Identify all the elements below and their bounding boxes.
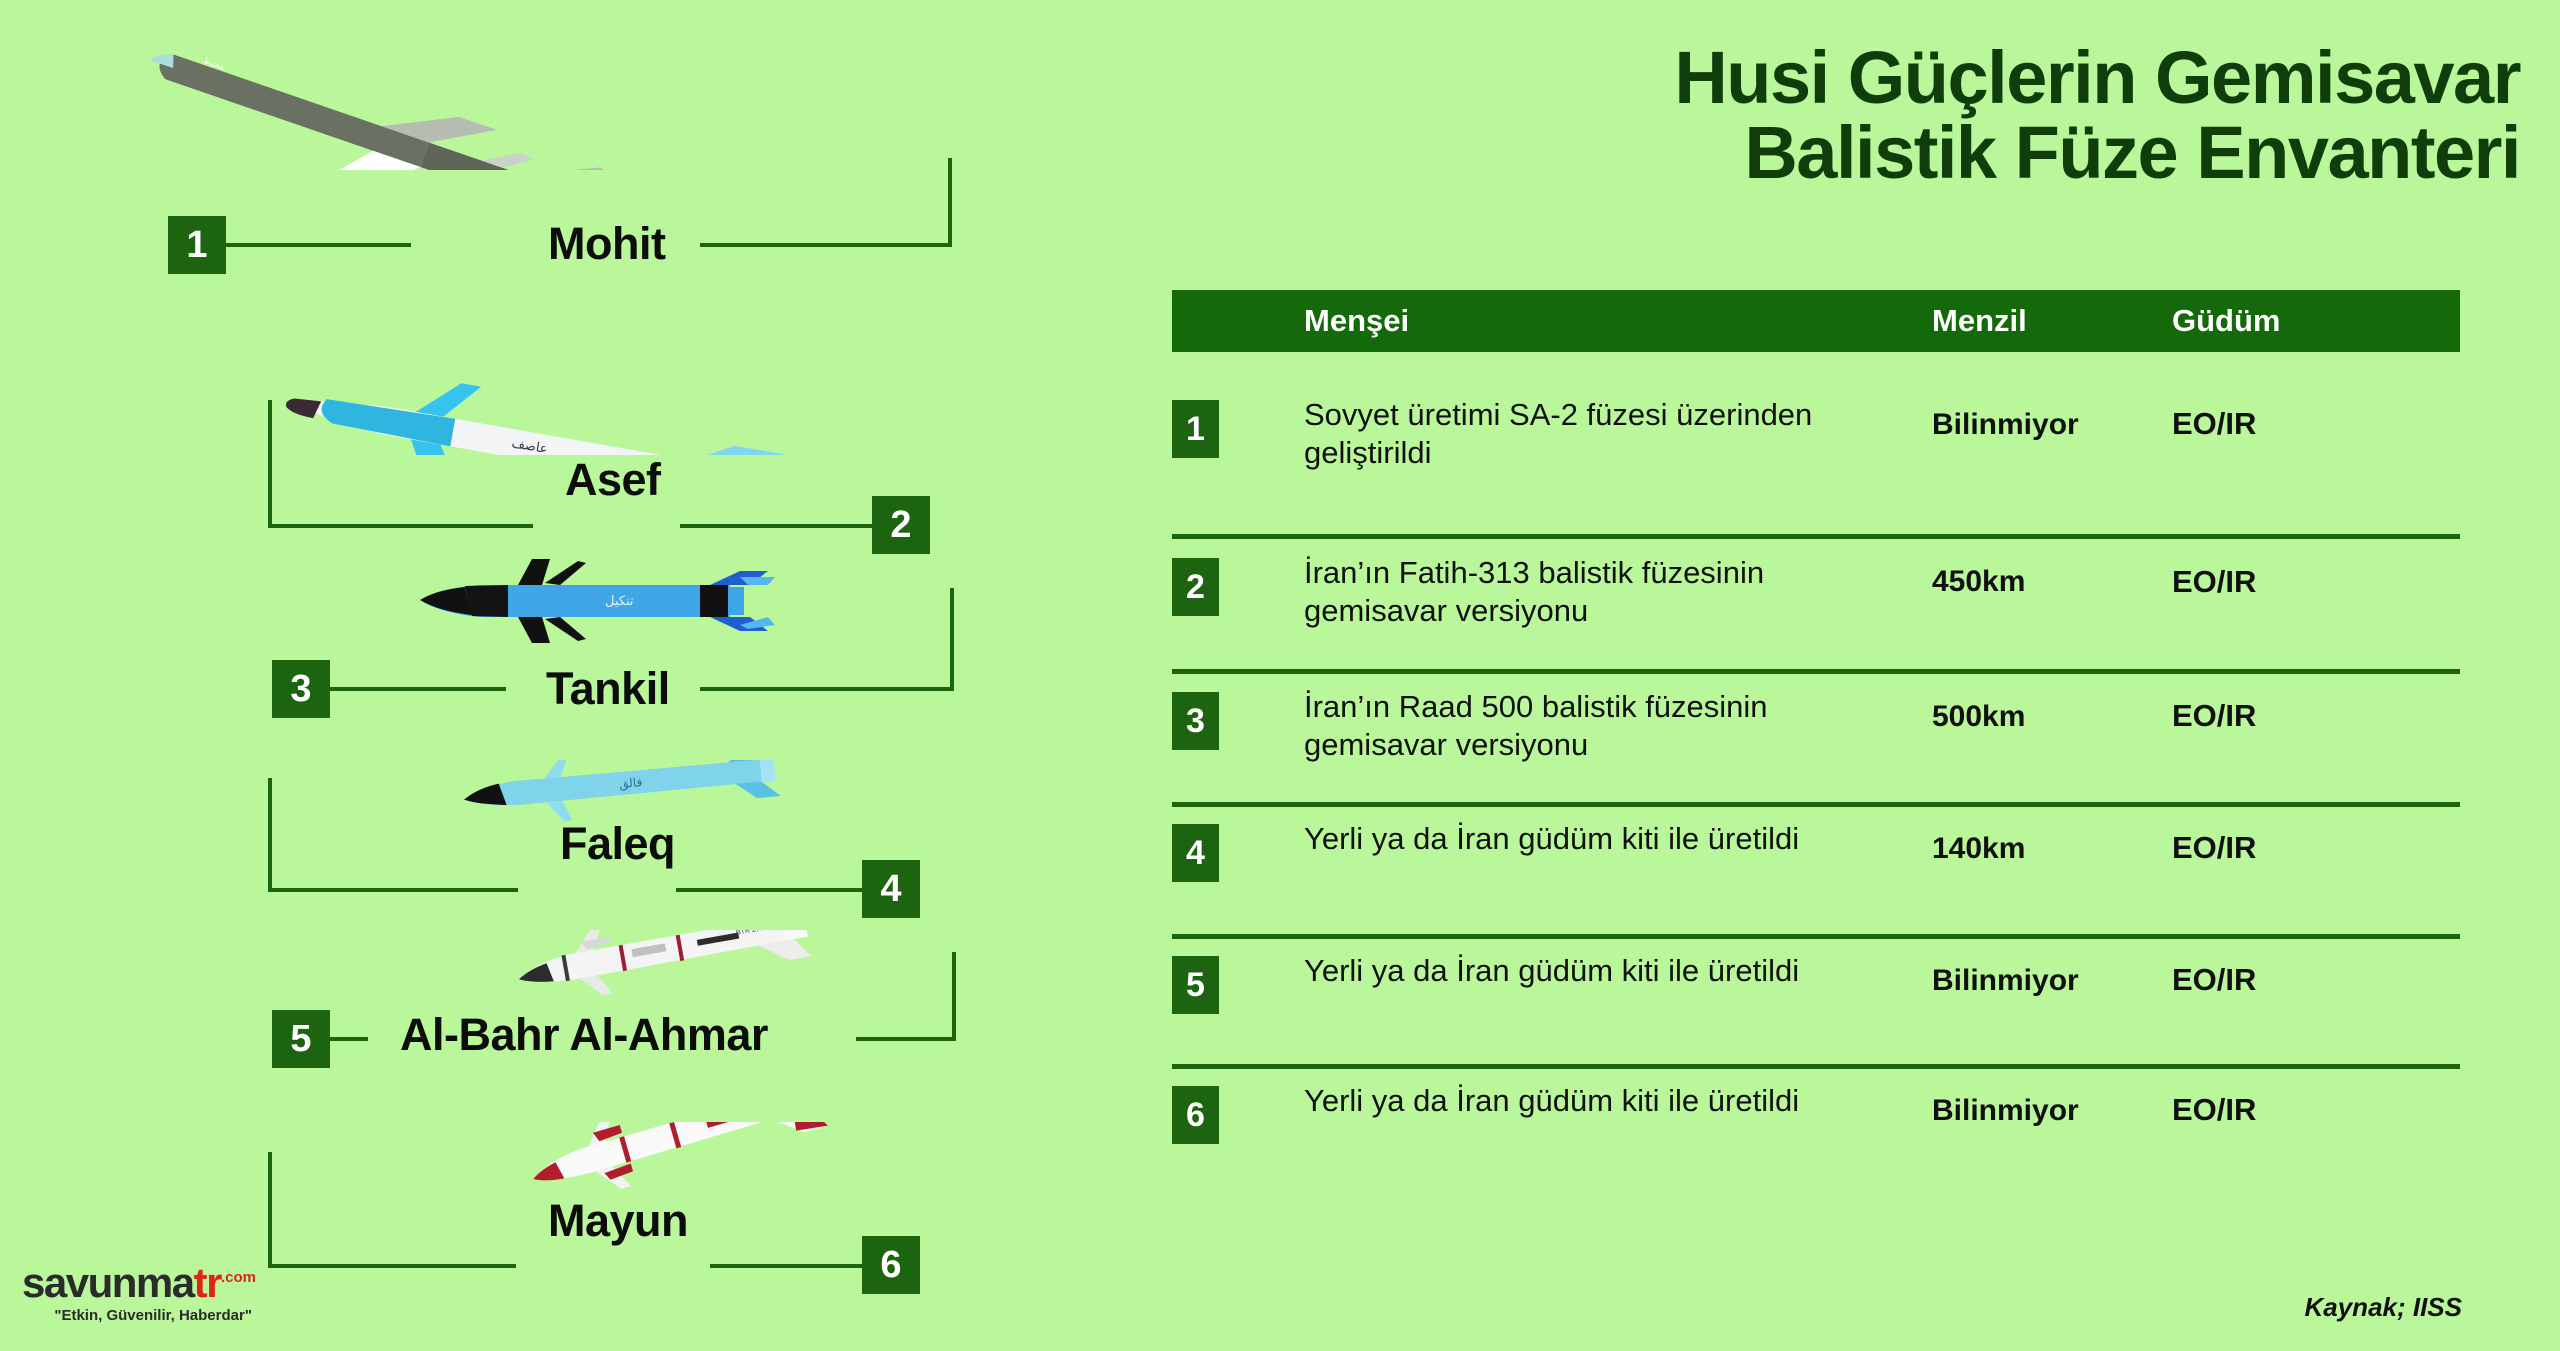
connector-bracket-6	[268, 1152, 272, 1268]
connector-line-2	[268, 524, 533, 528]
row-guidance-5: EO/IR	[2172, 962, 2256, 998]
missile-badge-2: 2	[872, 496, 930, 554]
row-divider	[1172, 669, 2460, 674]
row-badge-1: 1	[1172, 400, 1219, 458]
row-range-4: 140km	[1932, 832, 2025, 866]
row-badge-5: 5	[1172, 956, 1219, 1014]
row-badge-3: 3	[1172, 692, 1219, 750]
logo-word-main: savunma	[22, 1259, 194, 1306]
connector-bracket-2	[268, 400, 272, 528]
connector-line-3-right	[700, 687, 954, 691]
missile-badge-4: 4	[862, 860, 920, 918]
row-origin-6: Yerli ya da İran güdüm kiti ile üretildi	[1304, 1082, 1904, 1120]
missile-illustration-mohit: محيط	[140, 30, 720, 170]
missile-label-1: Mohit	[548, 218, 665, 270]
logo-tagline: "Etkin, Güvenilir, Haberdar"	[22, 1307, 256, 1324]
connector-line-1-right	[700, 243, 952, 247]
connector-bracket-5	[952, 952, 956, 1040]
row-guidance-1: EO/IR	[2172, 406, 2256, 442]
row-divider	[1172, 802, 2460, 807]
row-range-3: 500km	[1932, 700, 2025, 734]
missile-badge-5: 5	[272, 1010, 330, 1068]
missile-label-2: Asef	[565, 454, 661, 506]
connector-bracket-3	[950, 588, 954, 690]
row-range-6: Bilinmiyor	[1932, 1094, 2079, 1128]
connector-line-5	[330, 1037, 368, 1041]
row-origin-5: Yerli ya da İran güdüm kiti ile üretildi	[1304, 952, 1904, 990]
missile-label-5: Al-Bahr Al-Ahmar	[400, 1009, 768, 1061]
missile-illustration-tankil: تنكيل	[410, 555, 800, 655]
savunmatr-logo[interactable]: savunmatr.com "Etkin, Güvenilir, Haberda…	[22, 1262, 256, 1324]
logo-domain: .com	[221, 1269, 256, 1286]
missile-label-6: Mayun	[548, 1195, 688, 1247]
connector-line-5-right	[856, 1037, 956, 1041]
row-badge-2: 2	[1172, 558, 1219, 616]
row-divider	[1172, 934, 2460, 939]
connector-bracket-4	[268, 778, 272, 892]
row-origin-3: İran’ın Raad 500 balistik füzesinin gemi…	[1304, 688, 1904, 764]
logo-word-accent: tr	[194, 1259, 221, 1306]
page-title: Husi Güçlerin Gemisavar Balistik Füze En…	[1310, 40, 2520, 191]
missile-illustration-albahr: BTR 277	[505, 930, 835, 1020]
row-divider	[1172, 1064, 2460, 1069]
row-guidance-6: EO/IR	[2172, 1092, 2256, 1128]
row-origin-1: Sovyet üretimi SA-2 füzesi üzerinden gel…	[1304, 396, 1904, 472]
row-range-2: 450km	[1932, 565, 2025, 599]
row-origin-4: Yerli ya da İran güdüm kiti ile üretildi	[1304, 820, 1904, 858]
logo-wordmark: savunmatr.com	[22, 1262, 256, 1304]
connector-line-3	[330, 687, 506, 691]
connector-line-6-right	[710, 1264, 866, 1268]
svg-text:تنكيل: تنكيل	[605, 593, 634, 608]
connector-line-4	[268, 888, 518, 892]
connector-bracket-1	[948, 158, 952, 246]
missile-gallery: محيط 1 Mohit عاصف	[0, 0, 1150, 1351]
connector-line-6	[268, 1264, 516, 1268]
missile-label-3: Tankil	[546, 663, 670, 715]
row-badge-4: 4	[1172, 824, 1219, 882]
column-header-guidance: Güdüm	[2172, 290, 2281, 352]
connector-line-2-right	[680, 524, 876, 528]
row-range-5: Bilinmiyor	[1932, 964, 2079, 998]
row-badge-6: 6	[1172, 1086, 1219, 1144]
title-line-2: Balistik Füze Envanteri	[1310, 115, 2520, 190]
row-guidance-2: EO/IR	[2172, 564, 2256, 600]
column-header-origin: Menşei	[1304, 290, 1409, 352]
row-divider	[1172, 534, 2460, 539]
row-guidance-3: EO/IR	[2172, 698, 2256, 734]
table-header: Menşei Menzil Güdüm	[1172, 290, 2460, 352]
infographic-root: محيط 1 Mohit عاصف	[0, 0, 2560, 1351]
row-range-1: Bilinmiyor	[1932, 408, 2079, 442]
missile-illustration-asef: عاصف	[265, 345, 835, 455]
missile-badge-6: 6	[862, 1236, 920, 1294]
connector-line-4-right	[676, 888, 866, 892]
missile-badge-1: 1	[168, 216, 226, 274]
row-origin-2: İran’ın Fatih-313 balistik füzesinin gem…	[1304, 554, 1904, 630]
missile-badge-3: 3	[272, 660, 330, 718]
connector-line-1	[226, 243, 411, 247]
column-header-range: Menzil	[1932, 290, 2027, 352]
row-guidance-4: EO/IR	[2172, 830, 2256, 866]
source-note: Kaynak; IISS	[2304, 1292, 2462, 1323]
missile-label-4: Faleq	[560, 818, 675, 870]
svg-text:فالق: فالق	[619, 775, 643, 791]
title-line-1: Husi Güçlerin Gemisavar	[1674, 36, 2520, 119]
